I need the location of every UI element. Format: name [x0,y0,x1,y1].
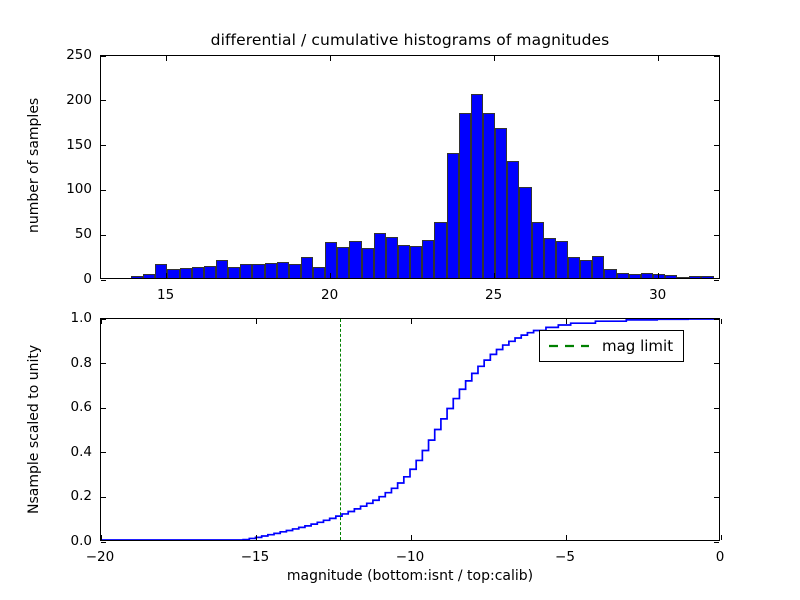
histogram-bar [471,94,483,278]
histogram-bar [604,269,616,278]
top-y-axis-label: number of samples [26,98,42,233]
tick-label: 200 [0,92,92,108]
tick-label: 0.2 [0,488,92,504]
tick-label: 50 [0,226,92,242]
histogram-bar [447,153,459,278]
tick-label: 100 [0,181,92,197]
tick-mark [101,56,106,57]
histogram-bar [519,187,531,278]
histogram-bar [398,245,410,278]
tick-mark [566,319,567,324]
histogram-bar [483,113,495,278]
tick-label: −15 [241,549,270,565]
tick-mark [101,408,106,409]
tick-mark [658,273,659,278]
tick-mark [101,100,106,101]
histogram-bar [313,267,325,278]
tick-mark [101,319,102,324]
histogram-bar [277,262,289,278]
histogram-bar [641,273,653,278]
tick-label: 150 [0,137,92,153]
tick-label: 25 [485,287,502,303]
bottom-y-axis-label: Nsample scaled to unity [26,344,42,513]
tick-label: −20 [86,549,115,565]
tick-mark [330,273,331,278]
histogram-bar [617,273,629,278]
histogram-bar [216,260,228,278]
tick-label: 30 [649,287,666,303]
tick-mark [411,319,412,324]
histogram-bar [568,257,580,278]
tick-mark [166,56,167,61]
tick-label: 0.8 [0,355,92,371]
histogram-bar [204,266,216,278]
histogram-bar [410,246,422,278]
histogram-bar [532,222,544,278]
histogram-bar [252,264,264,278]
mag-limit-vline [340,319,341,540]
histogram-bar [544,238,556,278]
histogram-bar [362,248,374,278]
tick-mark [714,190,719,191]
top-plot-area [101,56,719,278]
histogram-bar [301,257,313,278]
histogram-bar [434,222,446,278]
histogram-bar [629,274,641,278]
legend-entry-label: mag limit [602,337,673,355]
tick-mark [101,319,106,320]
tick-mark [714,235,719,236]
histogram-bar [180,268,192,278]
histogram-bar [422,240,434,278]
top-histogram-axes [100,55,720,279]
tick-label: 0 [0,271,92,287]
histogram-bar [167,269,179,278]
histogram-bar [240,264,252,278]
tick-mark [101,542,106,543]
tick-mark [714,145,719,146]
tick-mark [714,408,719,409]
histogram-bar [143,274,155,278]
tick-mark [714,542,719,543]
tick-mark [714,497,719,498]
tick-mark [256,319,257,324]
tick-label: −10 [396,549,425,565]
tick-mark [101,535,102,540]
tick-label: 0.6 [0,399,92,415]
histogram-bar [689,276,701,278]
bottom-cumulative-axes: mag limit [100,318,720,541]
tick-mark [714,280,719,281]
tick-mark [101,497,106,498]
histogram-bar [289,264,301,278]
tick-mark [166,273,167,278]
histogram-bar [265,263,277,278]
tick-label: 20 [321,287,338,303]
tick-label: −5 [555,549,575,565]
tick-mark [101,145,106,146]
histogram-bar [592,256,604,278]
tick-mark [714,363,719,364]
legend-dashed-line-icon [548,340,590,352]
histogram-bar [228,267,240,278]
histogram-bar [556,241,568,278]
histogram-bar [349,241,361,278]
tick-mark [101,280,106,281]
histogram-bar [131,276,143,278]
tick-mark [721,535,722,540]
tick-label: 250 [0,47,92,63]
histogram-bar [374,233,386,278]
tick-mark [101,190,106,191]
tick-mark [721,319,722,324]
tick-mark [714,319,719,320]
tick-mark [101,235,106,236]
histogram-bar [677,277,689,278]
tick-label: 1.0 [0,310,92,326]
histogram-bar [386,237,398,278]
tick-mark [494,273,495,278]
tick-mark [330,56,331,61]
tick-mark [714,56,719,57]
tick-label: 15 [157,287,174,303]
chart-title: differential / cumulative histograms of … [100,31,720,49]
tick-mark [494,56,495,61]
bottom-plot-area: mag limit [101,319,719,540]
histogram-bar [459,113,471,278]
tick-mark [256,535,257,540]
histogram-bar [325,242,337,278]
tick-mark [411,535,412,540]
histogram-bar [665,275,677,278]
tick-label: 0.0 [0,533,92,549]
tick-mark [658,56,659,61]
tick-mark [714,100,719,101]
legend-box[interactable]: mag limit [539,330,684,362]
tick-mark [101,363,106,364]
tick-mark [714,452,719,453]
histogram-bar [701,276,713,278]
tick-label: 0.4 [0,444,92,460]
tick-label: 0 [716,549,725,565]
tick-mark [101,452,106,453]
figure-canvas: differential / cumulative histograms of … [0,0,800,600]
histogram-bar [337,247,349,278]
tick-mark [566,535,567,540]
histogram-bar [495,128,507,278]
x-axis-label: magnitude (bottom:isnt / top:calib) [100,568,720,584]
histogram-bar [507,161,519,278]
histogram-bar [580,260,592,278]
histogram-bar [192,267,204,278]
